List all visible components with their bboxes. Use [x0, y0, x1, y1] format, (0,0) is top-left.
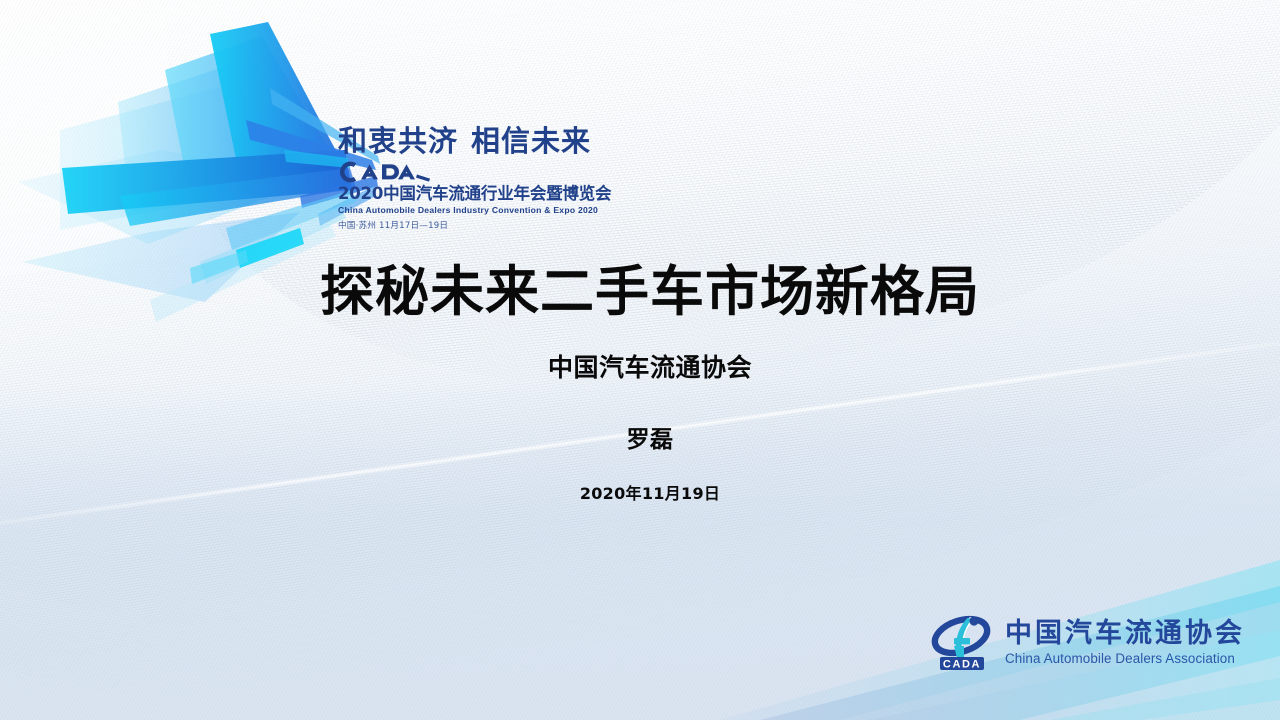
presentation-date: 2020年11月19日 — [180, 480, 1120, 504]
svg-text:CADA: CADA — [943, 658, 981, 670]
event-slogan-part2: 相信未来 — [471, 124, 591, 158]
title-block: 探秘未来二手车市场新格局 中国汽车流通协会 罗磊 2020年11月19日 — [180, 262, 1120, 504]
presenting-organization: 中国汽车流通协会 — [180, 348, 1120, 384]
cada-wordmark-icon — [338, 160, 638, 184]
speaker-name: 罗磊 — [180, 420, 1120, 454]
event-name-cn: 2020中国汽车流通行业年会暨博览会 — [338, 185, 638, 204]
slide-main-title: 探秘未来二手车市场新格局 — [180, 262, 1120, 322]
event-lockup: 和衷共济相信未来 2020中国汽车流通行业年会暨博览会 China Automo… — [338, 126, 638, 231]
event-name-en: China Automobile Dealers Industry Conven… — [338, 205, 638, 216]
event-slogan-part1: 和衷共济 — [338, 124, 458, 158]
event-slogan: 和衷共济相信未来 — [338, 126, 638, 158]
association-logo: CADA 中国汽车流通协会 China Automobile Dealers A… — [930, 612, 1245, 674]
association-logo-text: 中国汽车流通协会 China Automobile Dealers Associ… — [1005, 619, 1245, 666]
event-place-date: 中国·苏州 11月17日—19日 — [338, 219, 638, 231]
cada-emblem-icon: CADA — [930, 612, 996, 674]
association-name-cn: 中国汽车流通协会 — [1005, 619, 1245, 648]
association-name-en: China Automobile Dealers Association — [1005, 651, 1245, 667]
presentation-slide: 和衷共济相信未来 2020中国汽车流通行业年会暨博览会 China Automo… — [0, 0, 1280, 720]
